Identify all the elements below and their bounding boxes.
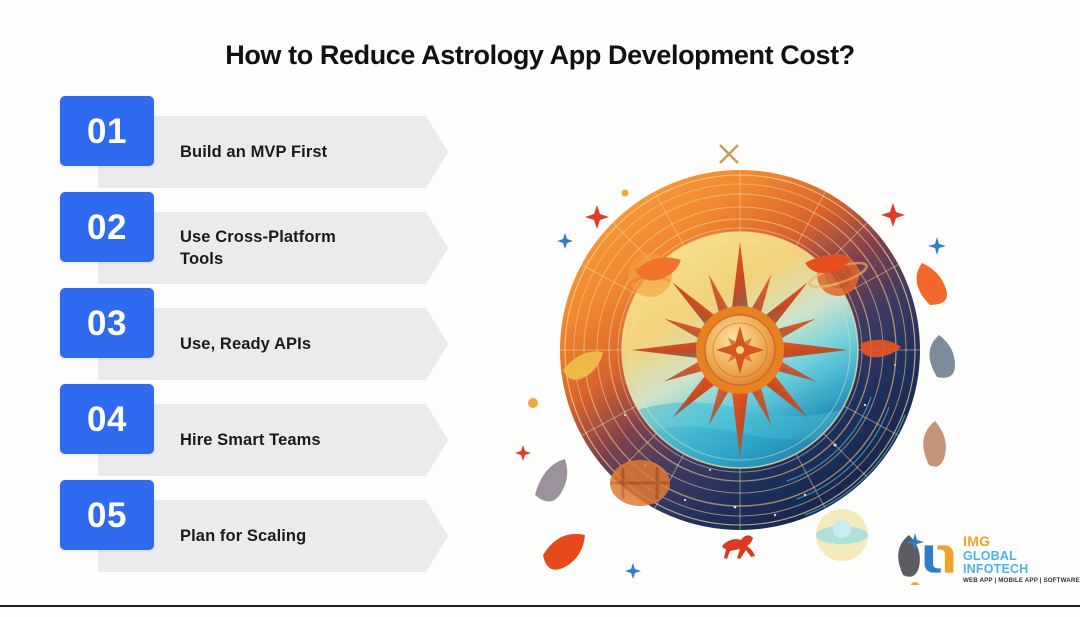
list-item[interactable]: Use Cross-Platform Tools 02 — [60, 192, 460, 288]
list-item[interactable]: Plan for Scaling 05 — [60, 480, 460, 576]
img-global-infotech-logo-mark — [922, 542, 956, 576]
logo-tagline: WEB APP | MOBILE APP | SOFTWARE — [963, 578, 1080, 584]
step-number: 03 — [87, 306, 127, 341]
list-item[interactable]: Use, Ready APIs 03 — [60, 288, 460, 384]
list-item[interactable]: Build an MVP First 01 — [60, 96, 460, 192]
step-label: Use, Ready APIs — [180, 333, 311, 355]
step-number: 04 — [87, 402, 127, 437]
step-number-badge: 02 — [60, 192, 154, 262]
step-number: 01 — [87, 114, 127, 149]
step-label: Build an MVP First — [180, 141, 327, 163]
step-number-badge: 04 — [60, 384, 154, 454]
astrology-wheel-illustration — [505, 115, 975, 585]
step-label: Hire Smart Teams — [180, 429, 321, 451]
bottom-divider — [0, 605, 1080, 607]
step-label: Plan for Scaling — [180, 525, 306, 547]
list-item[interactable]: Hire Smart Teams 04 — [60, 384, 460, 480]
step-number: 05 — [87, 498, 127, 533]
logo-primary-name: IMG — [963, 534, 1080, 548]
logo-secondary-name: GLOBAL INFOTECH — [963, 550, 1080, 575]
step-number-badge: 03 — [60, 288, 154, 358]
step-number-badge: 01 — [60, 96, 154, 166]
steps-list: Build an MVP First 01 Use Cross-Platform… — [60, 96, 460, 576]
brand-logo[interactable]: IMG GLOBAL INFOTECH WEB APP | MOBILE APP… — [922, 534, 1080, 584]
step-number-badge: 05 — [60, 480, 154, 550]
page-title: How to Reduce Astrology App Development … — [0, 40, 1080, 71]
step-label: Use Cross-Platform Tools — [180, 226, 380, 271]
step-number: 02 — [87, 210, 127, 245]
